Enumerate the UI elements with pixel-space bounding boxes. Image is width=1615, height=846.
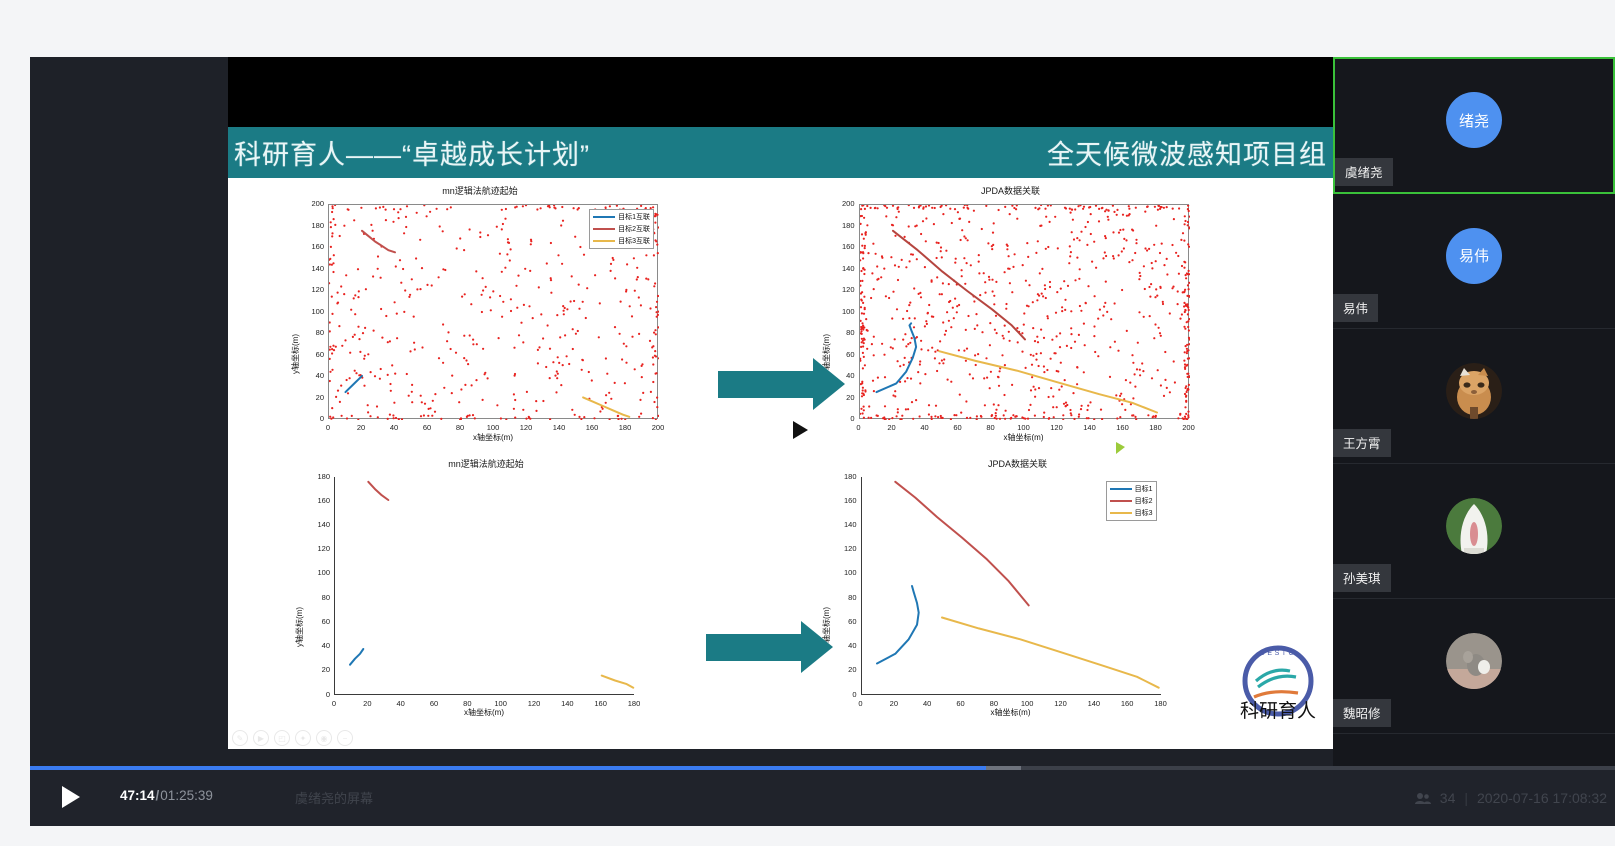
legend-swatch bbox=[1110, 512, 1132, 514]
x-tick-label: 60 bbox=[416, 423, 438, 432]
legend-label: 目标3互联 bbox=[618, 236, 650, 246]
transition-arrow-bottom bbox=[706, 621, 833, 673]
arrow-shaft bbox=[706, 634, 801, 661]
x-tick-label: 120 bbox=[1046, 423, 1068, 432]
plot-axes bbox=[859, 204, 1189, 419]
series-line bbox=[876, 323, 916, 392]
plot-title: JPDA数据关联 bbox=[801, 184, 1221, 197]
y-tick-label: 120 bbox=[302, 285, 324, 294]
y-tick-label: 140 bbox=[835, 520, 857, 529]
plot-bottom-right: JPDA数据关联 目标1 目标2 目标3 0204060801001201401… bbox=[803, 457, 1233, 725]
x-tick-label: 80 bbox=[980, 423, 1002, 432]
y-tick-label: 140 bbox=[308, 520, 330, 529]
participant-strip[interactable]: 绪尧 虞绪尧 易伟 易伟 bbox=[1333, 57, 1615, 770]
avatar: 易伟 bbox=[1446, 228, 1502, 284]
y-tick-label: 60 bbox=[835, 617, 857, 626]
y-tick-label: 100 bbox=[833, 307, 855, 316]
figure-cell-top-left: mn逻辑法航迹起始 目标1互联 目标2互联 目标3互联 020406080100… bbox=[228, 178, 781, 451]
legend-label: 目标3 bbox=[1135, 508, 1153, 518]
x-tick-label: 20 bbox=[350, 423, 372, 432]
organization-logo: UESTC 科研育人 bbox=[1228, 641, 1328, 725]
arrow-head bbox=[813, 358, 845, 410]
logo-svg: UESTC 科研育人 bbox=[1228, 641, 1328, 725]
y-tick-label: 180 bbox=[835, 472, 857, 481]
y-tick-label: 0 bbox=[835, 690, 857, 699]
plot-top-right: JPDA数据关联 0204060801001201401601802000204… bbox=[801, 184, 1221, 452]
meeting-timestamp: 2020-07-16 17:08:32 bbox=[1477, 790, 1607, 806]
plot-canvas bbox=[335, 477, 635, 695]
arrow-head bbox=[801, 621, 833, 673]
avatar-photo-grey-scene bbox=[1446, 633, 1502, 689]
participant-name: 易伟 bbox=[1333, 294, 1378, 322]
x-tick-label: 180 bbox=[1145, 423, 1167, 432]
y-tick-label: 40 bbox=[302, 371, 324, 380]
presenter-pointer-icon bbox=[793, 421, 808, 439]
y-tick-label: 0 bbox=[833, 414, 855, 423]
x-tick-label: 140 bbox=[548, 423, 570, 432]
y-tick-label: 20 bbox=[308, 665, 330, 674]
pen-icon[interactable]: ✎ bbox=[232, 730, 248, 746]
legend-item: 目标1互联 bbox=[593, 212, 650, 222]
legend-swatch bbox=[1110, 500, 1132, 502]
figure-cell-bottom-left: mn逻辑法航迹起始 020406080100120140160180020406… bbox=[228, 451, 781, 724]
zoom-icon[interactable]: ◉ bbox=[316, 730, 332, 746]
y-tick-label: 200 bbox=[833, 199, 855, 208]
plot-axes: 目标1 目标2 目标3 bbox=[861, 477, 1161, 695]
plot-axes bbox=[334, 477, 634, 695]
x-tick-label: 100 bbox=[1013, 423, 1035, 432]
slide-title-left: 科研育人——“卓越成长计划” bbox=[234, 133, 590, 172]
clutter-points bbox=[860, 205, 1190, 420]
x-tick-label: 200 bbox=[1178, 423, 1200, 432]
series-line bbox=[368, 481, 388, 499]
plot-ylabel: y轴坐标(m) bbox=[290, 334, 301, 374]
y-tick-label: 140 bbox=[833, 264, 855, 273]
total-time: 01:25:39 bbox=[160, 788, 213, 803]
people-icon bbox=[1415, 792, 1431, 805]
slide-header: 科研育人——“卓越成长计划” 全天候微波感知项目组 bbox=[228, 127, 1333, 178]
participant-tile-0[interactable]: 绪尧 虞绪尧 bbox=[1333, 57, 1615, 194]
y-tick-label: 60 bbox=[308, 617, 330, 626]
legend-swatch bbox=[593, 216, 615, 218]
highlighter-icon[interactable]: ▶ bbox=[253, 730, 269, 746]
series-line bbox=[877, 586, 919, 664]
y-tick-label: 40 bbox=[835, 641, 857, 650]
transition-arrow-top bbox=[718, 358, 845, 410]
avatar bbox=[1446, 363, 1502, 419]
plot-ylabel: y轴坐标(m) bbox=[294, 607, 305, 647]
legend-swatch bbox=[593, 228, 615, 230]
participant-tile-4[interactable]: 魏昭修 bbox=[1333, 599, 1615, 734]
plot-axes: 目标1互联 目标2互联 目标3互联 bbox=[328, 204, 658, 419]
participant-count: 34 bbox=[1440, 790, 1456, 806]
x-tick-label: 40 bbox=[383, 423, 405, 432]
plot-legend: 目标1 目标2 目标3 bbox=[1106, 481, 1157, 521]
series-line bbox=[362, 231, 395, 253]
y-tick-label: 100 bbox=[302, 307, 324, 316]
participant-tile-3[interactable]: 孙美琪 bbox=[1333, 464, 1615, 599]
x-tick-label: 80 bbox=[449, 423, 471, 432]
y-tick-label: 160 bbox=[302, 242, 324, 251]
legend-item: 目标2互联 bbox=[593, 224, 650, 234]
legend-label: 目标1 bbox=[1135, 484, 1153, 494]
y-tick-label: 0 bbox=[302, 414, 324, 423]
series-line bbox=[583, 397, 629, 416]
y-tick-label: 20 bbox=[302, 393, 324, 402]
y-tick-label: 160 bbox=[833, 242, 855, 251]
y-tick-label: 0 bbox=[308, 690, 330, 699]
x-tick-label: 0 bbox=[848, 423, 870, 432]
legend-swatch bbox=[1110, 488, 1132, 490]
plot-canvas bbox=[860, 205, 1190, 420]
series-line bbox=[893, 231, 1025, 340]
slide-title-right: 全天候微波感知项目组 bbox=[1047, 133, 1327, 172]
y-tick-label: 80 bbox=[835, 593, 857, 602]
y-tick-label: 180 bbox=[833, 221, 855, 230]
plot-top-left: mn逻辑法航迹起始 目标1互联 目标2互联 目标3互联 020406080100… bbox=[270, 184, 690, 452]
eraser-icon[interactable]: ◰ bbox=[274, 730, 290, 746]
x-tick-label: 140 bbox=[1079, 423, 1101, 432]
sharer-label: 虞绪尧的屏幕 bbox=[295, 788, 373, 807]
y-tick-label: 120 bbox=[835, 544, 857, 553]
y-tick-label: 20 bbox=[835, 665, 857, 674]
x-tick-label: 20 bbox=[881, 423, 903, 432]
x-tick-label: 160 bbox=[581, 423, 603, 432]
series-line bbox=[939, 351, 1157, 412]
plot-xlabel: x轴坐标(m) bbox=[861, 707, 1161, 718]
y-tick-label: 140 bbox=[302, 264, 324, 273]
legend-label: 目标2 bbox=[1135, 496, 1153, 506]
participant-name: 魏昭修 bbox=[1333, 699, 1391, 727]
legend-swatch bbox=[593, 240, 615, 242]
participant-tile-1[interactable]: 易伟 易伟 bbox=[1333, 194, 1615, 329]
plot-bottom-left: mn逻辑法航迹起始 020406080100120140160180020406… bbox=[276, 457, 696, 725]
series-line bbox=[602, 675, 634, 687]
x-tick-label: 40 bbox=[914, 423, 936, 432]
x-tick-label: 160 bbox=[1112, 423, 1134, 432]
y-tick-label: 180 bbox=[302, 221, 324, 230]
legend-item: 目标3 bbox=[1110, 508, 1153, 518]
y-tick-label: 40 bbox=[308, 641, 330, 650]
y-tick-label: 160 bbox=[835, 496, 857, 505]
legend-item: 目标3互联 bbox=[593, 236, 650, 246]
play-icon[interactable] bbox=[62, 786, 80, 808]
participant-name: 王方霄 bbox=[1333, 429, 1391, 457]
plot-title: mn逻辑法航迹起始 bbox=[270, 184, 690, 197]
plot-xlabel: x轴坐标(m) bbox=[859, 432, 1189, 443]
slide-body: mn逻辑法航迹起始 目标1互联 目标2互联 目标3互联 020406080100… bbox=[228, 178, 1333, 749]
annotation-toolbar[interactable]: ✎ ▶ ◰ ✦ ◉ − bbox=[232, 730, 353, 746]
x-tick-label: 120 bbox=[515, 423, 537, 432]
avatar bbox=[1446, 633, 1502, 689]
x-tick-label: 200 bbox=[647, 423, 669, 432]
series-line bbox=[350, 649, 363, 665]
x-tick-label: 180 bbox=[614, 423, 636, 432]
legend-label: 目标1互联 bbox=[618, 212, 650, 222]
avatar: 绪尧 bbox=[1446, 92, 1502, 148]
participant-name: 孙美琪 bbox=[1333, 564, 1391, 592]
series-line bbox=[346, 376, 363, 392]
series-line bbox=[942, 617, 1159, 687]
y-tick-label: 100 bbox=[308, 568, 330, 577]
svg-text:科研育人: 科研育人 bbox=[1240, 700, 1316, 722]
avatar-initials: 易伟 bbox=[1459, 245, 1489, 266]
y-tick-label: 160 bbox=[308, 496, 330, 505]
minus-icon[interactable]: − bbox=[337, 730, 353, 746]
avatar-initials: 绪尧 bbox=[1459, 110, 1489, 131]
avatar-photo-cat-orange bbox=[1446, 363, 1502, 419]
arrow-shaft bbox=[718, 371, 813, 398]
y-tick-label: 120 bbox=[308, 544, 330, 553]
x-tick-label: 0 bbox=[317, 423, 339, 432]
meeting-meta: 34 | 2020-07-16 17:08:32 bbox=[1415, 790, 1607, 806]
avatar-photo-green-white bbox=[1446, 498, 1502, 554]
y-tick-label: 120 bbox=[833, 285, 855, 294]
time-display: 47:14/01:25:39 bbox=[120, 788, 213, 803]
y-tick-label: 60 bbox=[302, 350, 324, 359]
plot-xlabel: x轴坐标(m) bbox=[328, 432, 658, 443]
y-tick-label: 180 bbox=[308, 472, 330, 481]
playback-control-bar: 47:14/01:25:39 虞绪尧的屏幕 34 | 2020-07-16 17… bbox=[30, 770, 1615, 826]
meta-divider: | bbox=[1464, 790, 1468, 806]
shared-screen[interactable]: 科研育人——“卓越成长计划” 全天候微波感知项目组 mn逻辑法航迹起始 目标1互… bbox=[228, 57, 1333, 749]
current-time: 47:14 bbox=[120, 788, 155, 803]
svg-text:UESTC: UESTC bbox=[1260, 650, 1296, 657]
y-tick-label: 80 bbox=[833, 328, 855, 337]
legend-label: 目标2互联 bbox=[618, 224, 650, 234]
legend-item: 目标1 bbox=[1110, 484, 1153, 494]
y-tick-label: 80 bbox=[302, 328, 324, 337]
plot-xlabel: x轴坐标(m) bbox=[334, 707, 634, 718]
participant-tile-2[interactable]: 王方霄 bbox=[1333, 329, 1615, 464]
plot-title: mn逻辑法航迹起始 bbox=[276, 457, 696, 470]
plot-legend: 目标1互联 目标2互联 目标3互联 bbox=[589, 209, 654, 249]
stamp-icon[interactable]: ✦ bbox=[295, 730, 311, 746]
participant-name: 虞绪尧 bbox=[1335, 158, 1393, 186]
legend-item: 目标2 bbox=[1110, 496, 1153, 506]
x-tick-label: 60 bbox=[947, 423, 969, 432]
figure-cell-top-right: JPDA数据关联 0204060801001201401601802000204… bbox=[781, 178, 1334, 451]
y-tick-label: 100 bbox=[835, 568, 857, 577]
avatar bbox=[1446, 498, 1502, 554]
y-tick-label: 200 bbox=[302, 199, 324, 208]
x-tick-label: 100 bbox=[482, 423, 504, 432]
slide-top-black-bar bbox=[228, 57, 1333, 127]
meeting-replay-page: 科研育人——“卓越成长计划” 全天候微波感知项目组 mn逻辑法航迹起始 目标1互… bbox=[0, 0, 1615, 846]
series-line bbox=[895, 481, 1028, 605]
y-tick-label: 80 bbox=[308, 593, 330, 602]
plot-title: JPDA数据关联 bbox=[803, 457, 1233, 470]
